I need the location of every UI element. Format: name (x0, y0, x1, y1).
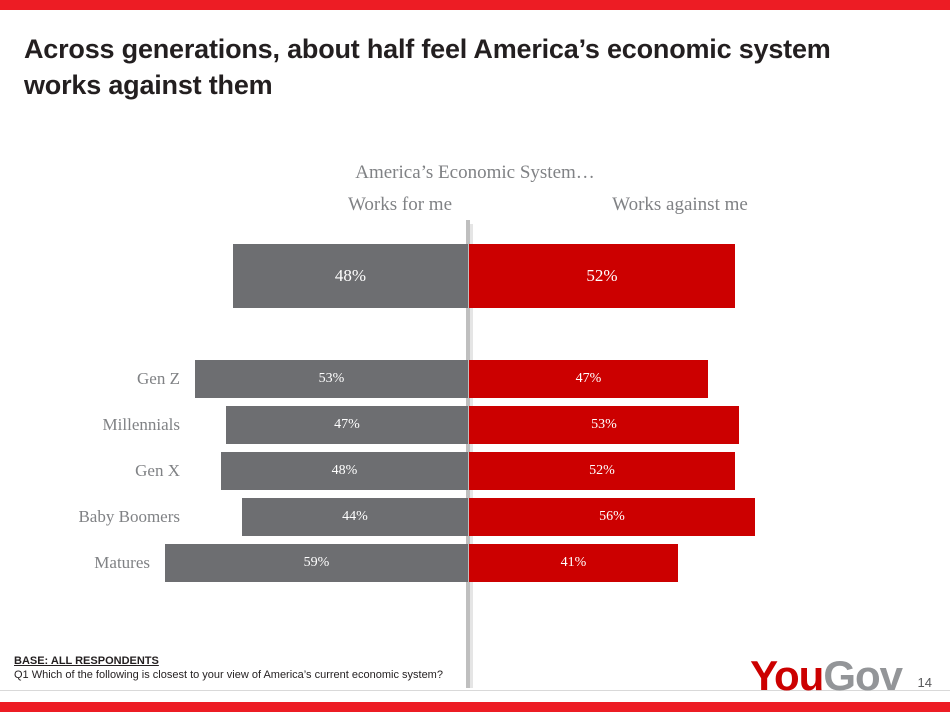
question-note: Q1 Which of the following is closest to … (14, 669, 443, 681)
bar-right-matures: 41% (469, 544, 678, 582)
logo-gov: Gov (823, 652, 902, 699)
page-title: Across generations, about half feel Amer… (24, 32, 914, 104)
bar-right-baby-boomers: 56% (469, 498, 755, 536)
base-note: BASE: ALL RESPONDENTS (14, 655, 159, 667)
bar-value-right-total: 52% (586, 266, 617, 286)
bar-right-millennials: 53% (469, 406, 739, 444)
page-number: 14 (918, 675, 932, 690)
category-label-gen-z: Gen Z (137, 360, 190, 398)
bar-value-right-gen-x: 52% (589, 463, 615, 479)
bar-left-gen-x: 48% (221, 452, 468, 490)
bar-value-left-gen-x: 48% (332, 463, 358, 479)
top-accent-bar (0, 0, 950, 10)
bar-right-gen-x: 52% (469, 452, 735, 490)
bottom-accent-bar (0, 702, 950, 712)
bar-left-gen-z: 53% (195, 360, 468, 398)
category-label-matures: Matures (94, 544, 160, 582)
category-label-baby-boomers: Baby Boomers (78, 498, 190, 536)
chart-row-baby-boomers: Baby Boomers 44% 56% (0, 498, 950, 536)
row-label-col-millennials: Millennials (0, 406, 190, 444)
bar-value-right-matures: 41% (561, 555, 587, 571)
bar-value-left-total: 48% (335, 266, 366, 286)
chart-row-matures: Matures 59% 41% (0, 544, 950, 582)
chart-row-millennials: Millennials 47% 53% (0, 406, 950, 444)
bar-value-left-gen-z: 53% (319, 371, 345, 387)
category-label-gen-x: Gen X (135, 452, 190, 490)
row-label-col-gen-x: Gen X (0, 452, 190, 490)
bar-value-right-millennials: 53% (591, 417, 617, 433)
chart-row-gen-x: Gen X 48% 52% (0, 452, 950, 490)
category-label-millennials: Millennials (103, 406, 190, 444)
chart-row-total: 48% 52% (0, 244, 950, 308)
yougov-logo: YouGov (750, 655, 902, 697)
chart-heading: America’s Economic System… (0, 162, 950, 184)
row-label-col-gen-z: Gen Z (0, 360, 190, 398)
chart-row-gen-z: Gen Z 53% 47% (0, 360, 950, 398)
bar-right-gen-z: 47% (469, 360, 708, 398)
right-axis-label: Works against me (440, 194, 920, 216)
bar-right-total: 52% (469, 244, 735, 308)
bar-left-total: 48% (233, 244, 468, 308)
bar-value-right-gen-z: 47% (576, 371, 602, 387)
bar-value-right-baby-boomers: 56% (599, 509, 625, 525)
chart-area: America’s Economic System… Works for me … (0, 150, 950, 630)
bar-left-matures: 59% (165, 544, 468, 582)
row-label-col-matures: Matures (0, 544, 160, 582)
bar-left-millennials: 47% (226, 406, 468, 444)
row-label-col-baby-boomers: Baby Boomers (0, 498, 190, 536)
logo-you: You (750, 652, 823, 699)
bar-value-left-millennials: 47% (334, 417, 360, 433)
bar-left-baby-boomers: 44% (242, 498, 468, 536)
bar-value-left-baby-boomers: 44% (342, 509, 368, 525)
bar-value-left-matures: 59% (304, 555, 330, 571)
